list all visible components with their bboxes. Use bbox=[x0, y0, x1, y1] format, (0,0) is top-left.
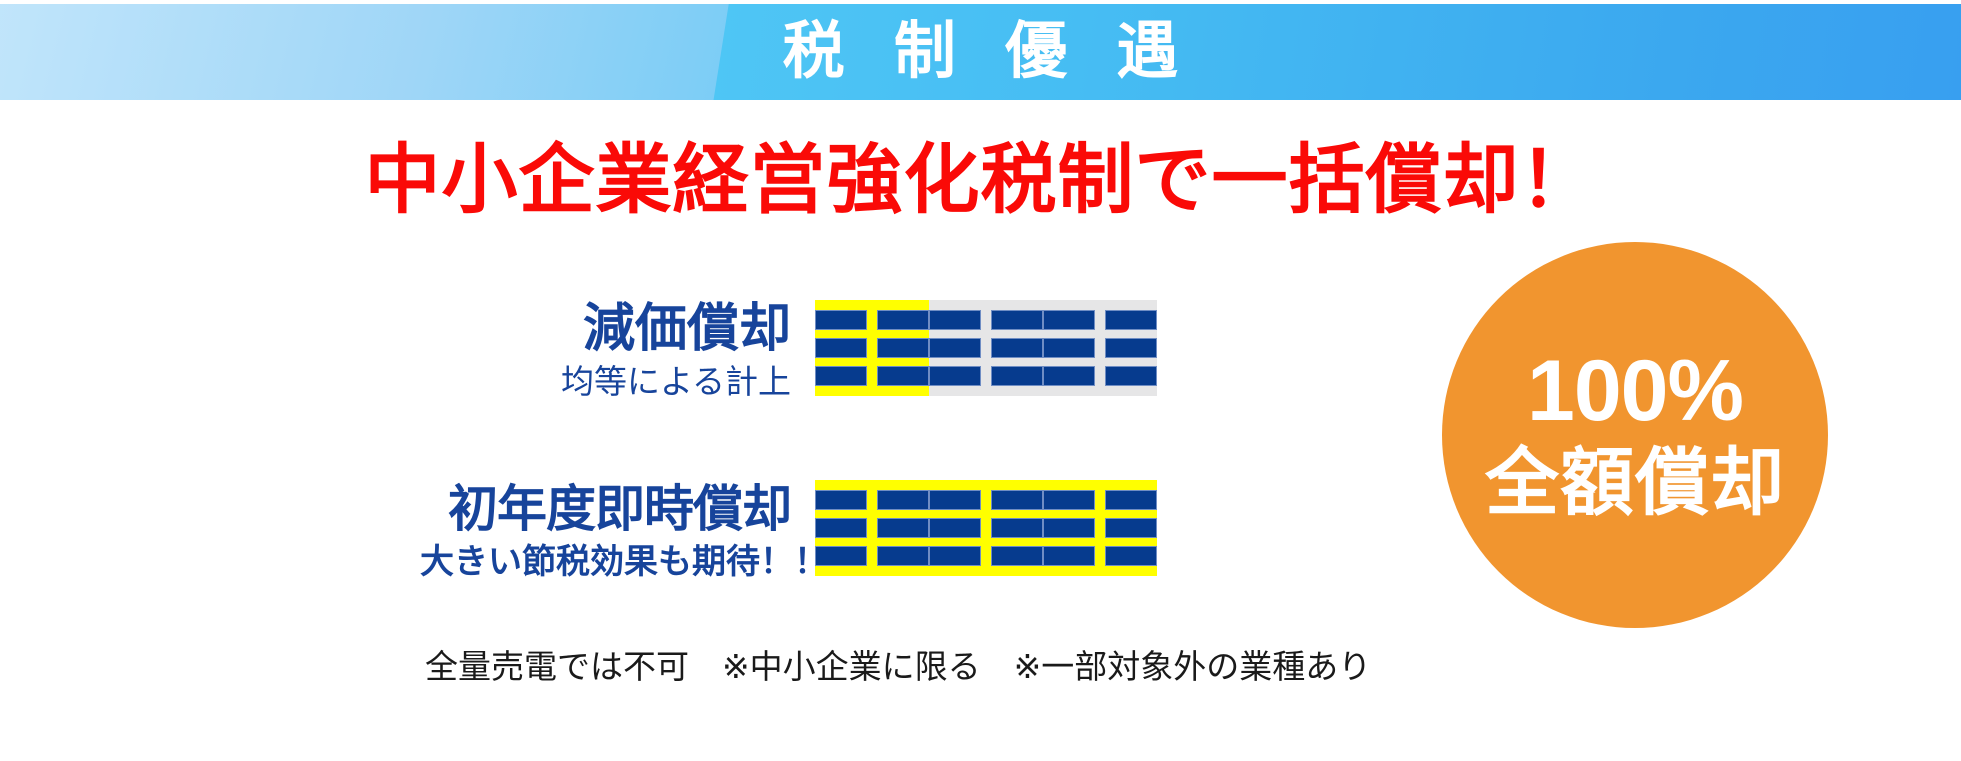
panel-block bbox=[991, 490, 1043, 510]
panel-group-highlighted bbox=[1043, 480, 1157, 576]
row-depreciation-labels: 減価償却 均等による計上 bbox=[420, 300, 815, 403]
panel-block bbox=[991, 338, 1043, 358]
panel-block bbox=[929, 518, 981, 538]
panel-block bbox=[815, 518, 867, 538]
row-immediate-panels bbox=[815, 480, 1157, 576]
badge-label: 全額償却 bbox=[1485, 441, 1785, 525]
panel-group-highlighted bbox=[815, 480, 929, 576]
panel-block bbox=[815, 546, 867, 566]
panel-block bbox=[929, 490, 981, 510]
panel-block bbox=[929, 546, 981, 566]
panel-block bbox=[1105, 546, 1157, 566]
panel-block bbox=[1105, 518, 1157, 538]
row-depreciation-panels bbox=[815, 300, 1157, 396]
panel-block bbox=[1043, 546, 1095, 566]
panel-block bbox=[991, 518, 1043, 538]
panel-block bbox=[1043, 366, 1095, 386]
panel-block bbox=[929, 310, 981, 330]
panel-block bbox=[877, 366, 929, 386]
panel-block bbox=[877, 518, 929, 538]
solar-panel-icon bbox=[929, 310, 1043, 386]
solar-panel-icon bbox=[815, 490, 929, 566]
panel-block bbox=[1105, 338, 1157, 358]
row-depreciation-title: 減価償却 bbox=[420, 300, 791, 358]
panel-block bbox=[877, 490, 929, 510]
panel-block bbox=[929, 338, 981, 358]
panel-block bbox=[1043, 490, 1095, 510]
badge-percentage: 100% bbox=[1527, 345, 1743, 437]
row-depreciation-subtitle: 均等による計上 bbox=[420, 361, 791, 403]
panel-block bbox=[815, 366, 867, 386]
solar-panel-icon bbox=[1043, 310, 1157, 386]
solar-panel-icon bbox=[1043, 490, 1157, 566]
panel-block bbox=[991, 546, 1043, 566]
full-depreciation-badge: 100% 全額償却 bbox=[1442, 242, 1828, 628]
panel-block bbox=[877, 338, 929, 358]
panel-block bbox=[1043, 338, 1095, 358]
panel-block bbox=[1043, 518, 1095, 538]
panel-block bbox=[1105, 366, 1157, 386]
panel-block bbox=[877, 310, 929, 330]
panel-group-highlighted bbox=[929, 480, 1043, 576]
panel-block bbox=[1105, 310, 1157, 330]
panel-block bbox=[991, 310, 1043, 330]
row-depreciation: 減価償却 均等による計上 bbox=[420, 300, 1157, 403]
panel-block bbox=[877, 546, 929, 566]
panel-block bbox=[991, 366, 1043, 386]
panel-block bbox=[1105, 490, 1157, 510]
page-headline: 中小企業経営強化税制で一括償却！ bbox=[0, 118, 1961, 228]
solar-panel-icon bbox=[929, 490, 1043, 566]
panel-group-highlighted bbox=[815, 300, 929, 396]
row-immediate-depreciation: 初年度即時償却 大きい節税効果も期待！！ bbox=[420, 480, 1157, 583]
panel-block bbox=[815, 338, 867, 358]
banner-title: 税 制 優 遇 bbox=[0, 4, 1961, 100]
panel-block bbox=[815, 490, 867, 510]
solar-panel-icon bbox=[815, 310, 929, 386]
panel-block bbox=[929, 366, 981, 386]
header-banner: 税 制 優 遇 bbox=[0, 4, 1961, 100]
disclaimer-note: 全量売電では不可 ※中小企業に限る ※一部対象外の業種あり bbox=[425, 640, 1371, 688]
row-immediate-subtitle: 大きい節税効果も期待！！ bbox=[420, 541, 791, 583]
panel-group-muted bbox=[1043, 300, 1157, 396]
panel-block bbox=[1043, 310, 1095, 330]
panel-block bbox=[815, 310, 867, 330]
row-immediate-labels: 初年度即時償却 大きい節税効果も期待！！ bbox=[420, 480, 815, 583]
row-immediate-title: 初年度即時償却 bbox=[420, 480, 791, 538]
panel-group-muted bbox=[929, 300, 1043, 396]
